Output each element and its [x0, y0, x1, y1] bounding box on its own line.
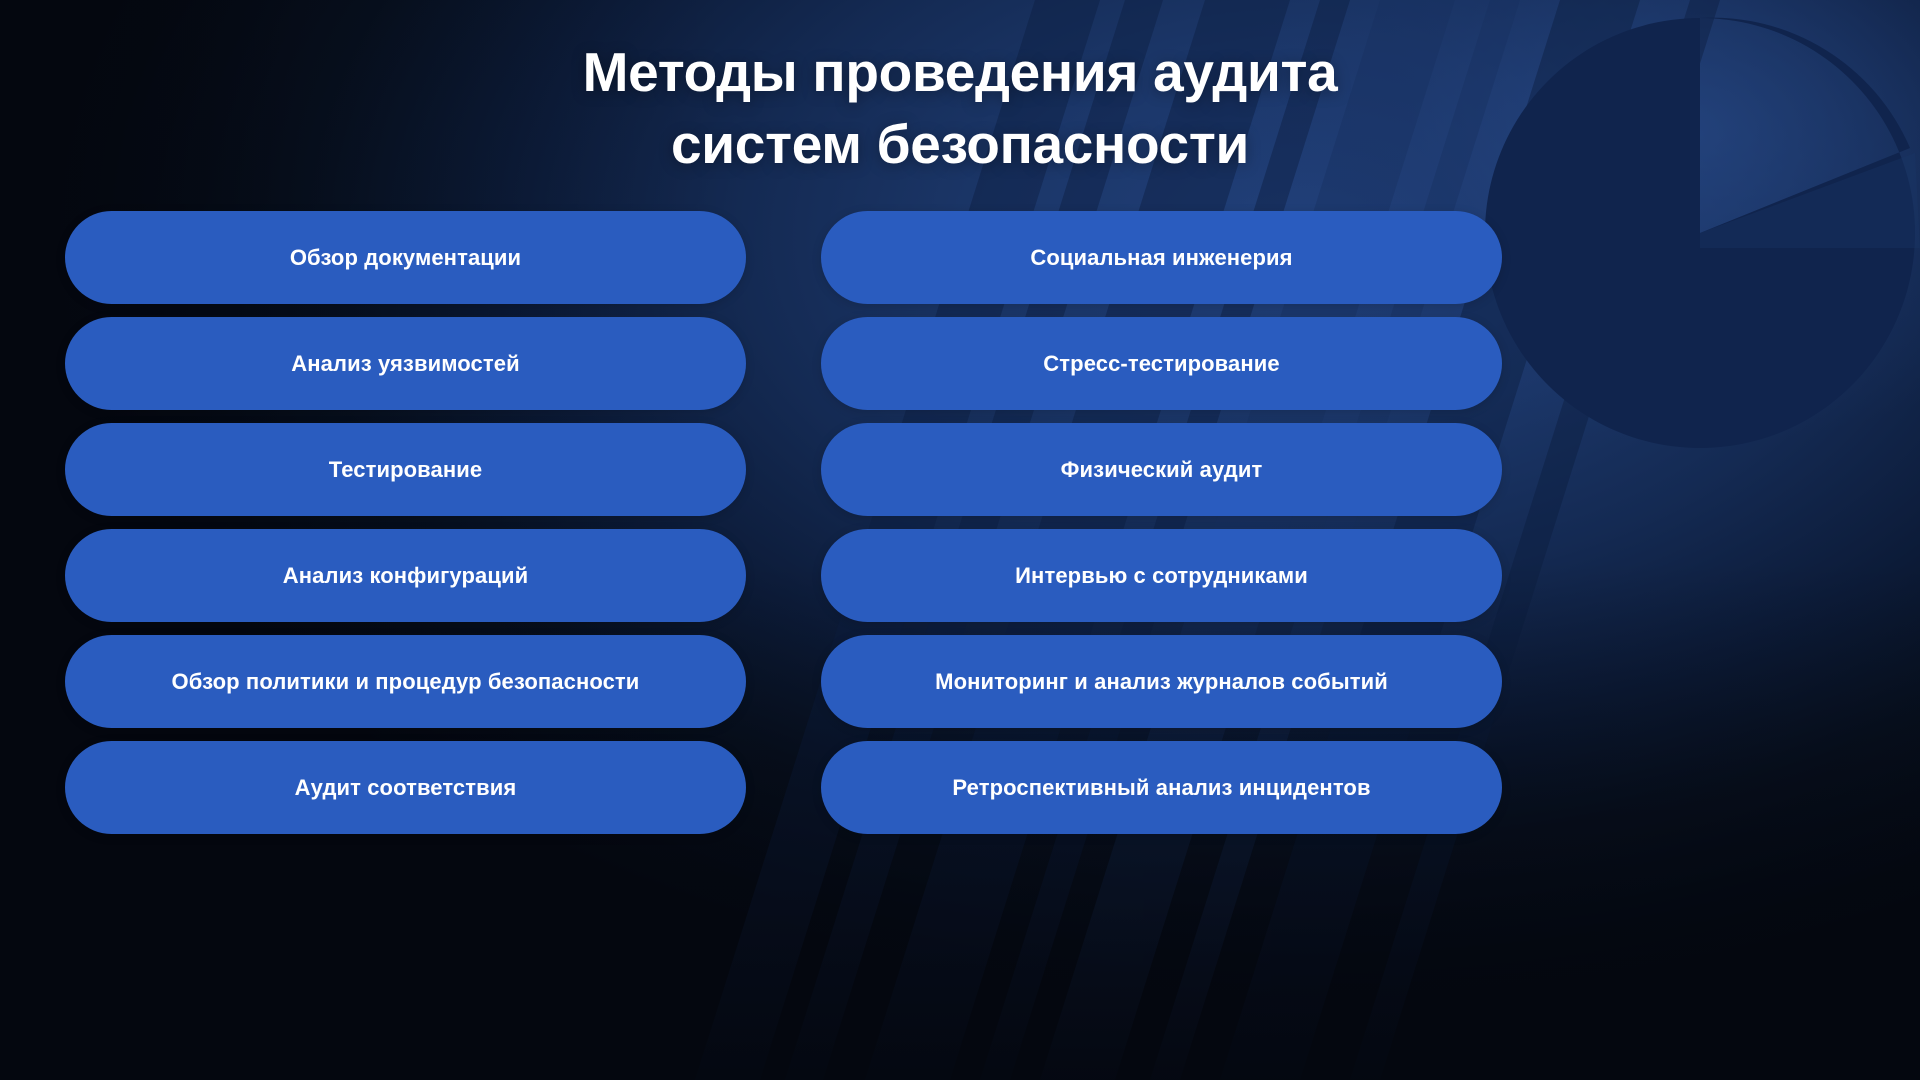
method-pill-right-2[interactable]: Стресс-тестирование [821, 317, 1502, 410]
method-pill-right-5[interactable]: Мониторинг и анализ журналов событий [821, 635, 1502, 728]
method-pill-label: Анализ конфигураций [283, 563, 528, 589]
method-pill-left-3[interactable]: Тестирование [65, 423, 746, 516]
slide-root: Методы проведения аудита систем безопасн… [0, 0, 1920, 1080]
method-pill-right-3[interactable]: Физический аудит [821, 423, 1502, 516]
method-pill-right-1[interactable]: Социальная инженерия [821, 211, 1502, 304]
method-pill-label: Тестирование [329, 457, 482, 483]
method-pill-label: Обзор документации [290, 245, 521, 271]
method-pill-label: Аудит соответствия [295, 775, 517, 801]
method-pill-label: Мониторинг и анализ журналов событий [935, 669, 1388, 695]
methods-column-left: Обзор документации Анализ уязвимостей Те… [65, 211, 746, 834]
page-title-line-2: систем безопасности [0, 108, 1920, 180]
method-pill-right-4[interactable]: Интервью с сотрудниками [821, 529, 1502, 622]
method-pill-left-1[interactable]: Обзор документации [65, 211, 746, 304]
method-pill-left-2[interactable]: Анализ уязвимостей [65, 317, 746, 410]
page-title: Методы проведения аудита систем безопасн… [0, 36, 1920, 180]
method-pill-label: Физический аудит [1061, 457, 1263, 483]
method-pill-label: Ретроспективный анализ инцидентов [952, 775, 1370, 801]
method-pill-left-6[interactable]: Аудит соответствия [65, 741, 746, 834]
method-pill-label: Стресс-тестирование [1043, 351, 1279, 377]
method-pill-left-5[interactable]: Обзор политики и процедур безопасности [65, 635, 746, 728]
methods-column-right: Социальная инженерия Стресс-тестирование… [821, 211, 1502, 834]
method-pill-label: Обзор политики и процедур безопасности [172, 669, 640, 695]
method-pill-label: Социальная инженерия [1030, 245, 1292, 271]
method-pill-label: Интервью с сотрудниками [1015, 563, 1308, 589]
method-pill-right-6[interactable]: Ретроспективный анализ инцидентов [821, 741, 1502, 834]
method-pill-label: Анализ уязвимостей [291, 351, 519, 377]
page-title-line-1: Методы проведения аудита [0, 36, 1920, 108]
method-pill-left-4[interactable]: Анализ конфигураций [65, 529, 746, 622]
methods-columns: Обзор документации Анализ уязвимостей Те… [65, 211, 1505, 834]
